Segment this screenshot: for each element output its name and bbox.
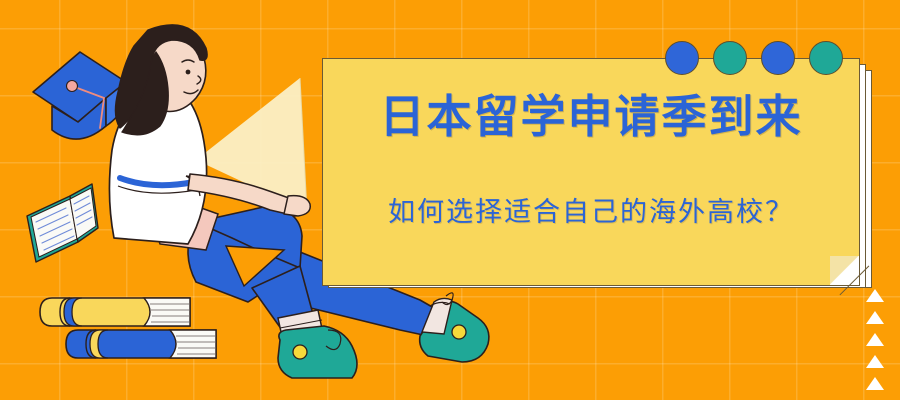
decor-dot-blue-1 xyxy=(665,41,699,75)
decor-triangle-3 xyxy=(866,333,884,346)
graduation-cap-icon xyxy=(33,52,126,139)
decor-triangle-4 xyxy=(866,355,884,368)
page-subtitle: 如何选择适合自己的海外高校？ xyxy=(322,190,860,229)
page-title: 日本留学申请季到来 xyxy=(322,92,860,142)
promo-banner: 日本留学申请季到来 如何选择适合自己的海外高校？ xyxy=(0,0,900,400)
decor-dot-teal-2 xyxy=(809,41,843,75)
sneaker-near xyxy=(278,326,357,378)
open-book-icon xyxy=(27,184,98,262)
decor-triangle-5 xyxy=(866,377,884,390)
sneaker-far xyxy=(420,293,489,362)
decor-dot-blue-2 xyxy=(761,41,795,75)
decor-triangle-2 xyxy=(866,311,884,324)
card-folded-corner xyxy=(830,256,860,286)
paper-sheet xyxy=(196,78,307,212)
decor-triangle-1 xyxy=(866,289,884,302)
book-stack-icon xyxy=(40,298,216,358)
decor-dot-teal-1 xyxy=(713,41,747,75)
